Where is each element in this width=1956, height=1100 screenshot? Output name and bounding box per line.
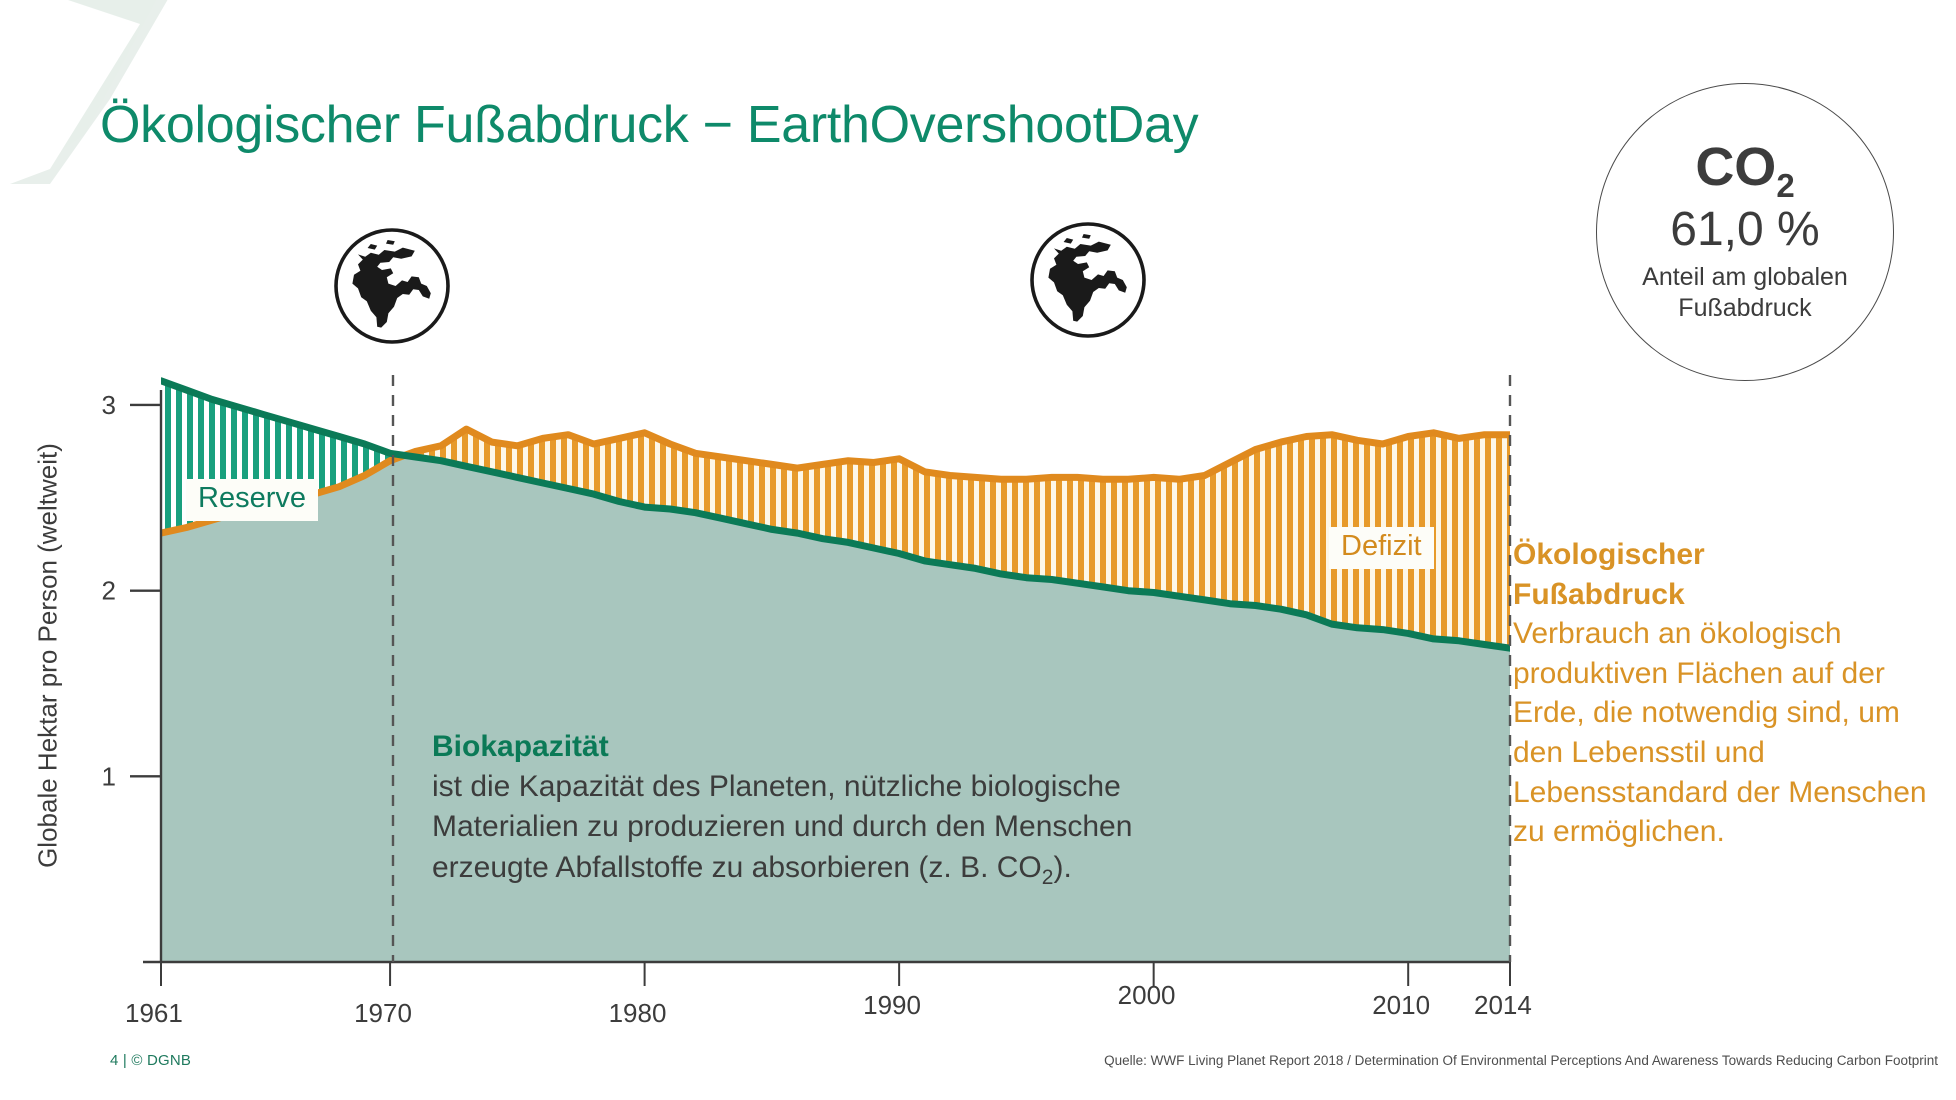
footprint-description: Ökologischer Fußabdruck Verbrauch an öko… bbox=[1513, 535, 1933, 852]
biocapacity-line-1: ist die Kapazität des Planeten, nützlich… bbox=[432, 770, 1121, 803]
co2-share-badge: CO2 61,0 % Anteil am globalen Fußabdruck bbox=[1596, 83, 1894, 381]
co2-caption-line-1: Anteil am globalen bbox=[1642, 262, 1848, 293]
footer-page-credit: 4 | © DGNB bbox=[110, 1052, 191, 1069]
globe-icon-1970 bbox=[336, 230, 448, 342]
y-tick-label-2: 2 bbox=[102, 576, 116, 606]
footprint-title: Ökologischer Fußabdruck bbox=[1513, 535, 1933, 614]
biocapacity-line-3-pre: erzeugte Abfallstoffe zu absorbieren (z.… bbox=[432, 851, 1042, 884]
page-title: Ökologischer Fußabdruck − EarthOvershoot… bbox=[100, 95, 1198, 155]
biocapacity-co2-subscript: 2 bbox=[1042, 866, 1054, 889]
deficit-annotation-label: Defizit bbox=[1329, 527, 1434, 569]
y-tick-label-3: 3 bbox=[102, 390, 116, 420]
x-tick-label-2010: 2010 bbox=[1372, 990, 1430, 1021]
footprint-body: Verbrauch an ökologisch produktiven Fläc… bbox=[1513, 617, 1927, 848]
co2-caption-line-2: Fußabdruck bbox=[1642, 293, 1848, 324]
x-axis-ticks bbox=[161, 962, 1510, 986]
globe-icon-2014-b bbox=[1160, 224, 1272, 336]
co2-formula-text: CO2 bbox=[1695, 140, 1794, 202]
x-tick-label-1980: 1980 bbox=[609, 998, 667, 1029]
globe-icon-2014-a bbox=[1032, 224, 1144, 336]
biocapacity-line bbox=[161, 381, 1510, 648]
biocapacity-title: Biokapazität bbox=[432, 727, 1332, 767]
co2-percentage-value: 61,0 % bbox=[1670, 205, 1819, 255]
biocapacity-description: Biokapazität ist die Kapazität des Plane… bbox=[432, 727, 1332, 892]
co2-formula-subscript: 2 bbox=[1776, 166, 1794, 203]
x-tick-label-1990: 1990 bbox=[863, 990, 921, 1021]
footprint-line bbox=[161, 429, 1510, 533]
footprint-title-line-1: Ökologischer bbox=[1513, 538, 1705, 571]
co2-formula-main: CO bbox=[1695, 137, 1776, 197]
decorative-hexagon-shape bbox=[0, 0, 220, 184]
x-tick-label-2014: 2014 bbox=[1474, 990, 1532, 1021]
y-tick-label-1: 1 bbox=[102, 761, 116, 791]
y-axis-ticks: 123 bbox=[102, 390, 161, 791]
biocapacity-body: ist die Kapazität des Planeten, nützlich… bbox=[432, 770, 1132, 883]
reserve-annotation-label: Reserve bbox=[186, 479, 318, 521]
biocapacity-line-2: Materialien zu produzieren und durch den… bbox=[432, 810, 1132, 843]
x-tick-label-1970: 1970 bbox=[354, 998, 412, 1029]
x-tick-label-1961: 1961 bbox=[125, 998, 183, 1029]
co2-caption: Anteil am globalen Fußabdruck bbox=[1642, 262, 1848, 325]
biocapacity-line-3-post: ). bbox=[1053, 851, 1071, 884]
y-axis-label: Globale Hektar pro Person (weltweit) bbox=[33, 376, 64, 936]
x-tick-label-2000: 2000 bbox=[1118, 980, 1176, 1011]
footprint-title-line-2: Fußabdruck bbox=[1513, 578, 1685, 611]
footer-source-note: Quelle: WWF Living Planet Report 2018 / … bbox=[1104, 1053, 1938, 1068]
